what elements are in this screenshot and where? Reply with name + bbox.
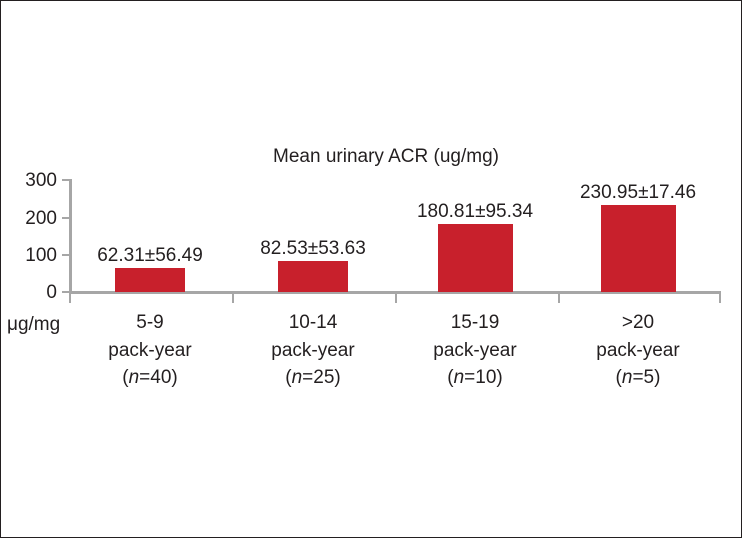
y-tick-100	[62, 254, 70, 256]
bar-value-label-4: 230.95±17.46	[558, 183, 718, 202]
n-count-4: =5)	[632, 367, 660, 388]
category-range-1: 5-9	[70, 309, 230, 337]
n-symbol-2: n	[292, 367, 303, 388]
category-unit-3: pack-year	[395, 337, 555, 365]
category-unit-2: pack-year	[233, 337, 393, 365]
x-tick-2	[395, 294, 397, 303]
bar-5-9-pack-year	[115, 268, 185, 292]
category-range-2: 10-14	[233, 309, 393, 337]
plot-area: 300 200 100 0 62.31±56.49 82.53±53.63 18…	[1, 1, 742, 538]
x-tick-end	[719, 294, 721, 303]
n-count-3: =10)	[464, 367, 503, 388]
y-tick-300	[62, 179, 70, 181]
bar-15-19-pack-year	[438, 224, 513, 292]
category-n-2: (n=25)	[233, 364, 393, 392]
category-range-3: 15-19	[395, 309, 555, 337]
y-tick-label-0: 0	[9, 283, 57, 302]
category-unit-4: pack-year	[558, 337, 718, 365]
y-axis-unit-label: μg/mg	[7, 314, 60, 336]
n-symbol-1: n	[129, 367, 140, 388]
bar-gt-20-pack-year	[601, 205, 676, 292]
category-label-4: >20 pack-year (n=5)	[558, 309, 718, 392]
figure-panel: Mean urinary ACR (ug/mg) 300 200 100 0 6…	[0, 0, 742, 538]
category-n-1: (n=40)	[70, 364, 230, 392]
n-count-1: =40)	[139, 367, 178, 388]
bar-10-14-pack-year	[278, 261, 348, 292]
y-axis-line	[69, 179, 72, 293]
n-symbol-4: n	[622, 367, 633, 388]
y-tick-200	[62, 217, 70, 219]
n-symbol-3: n	[454, 367, 465, 388]
n-count-2: =25)	[302, 367, 341, 388]
bar-value-label-3: 180.81±95.34	[395, 202, 555, 221]
bar-value-label-1: 62.31±56.49	[70, 246, 230, 265]
y-tick-label-100: 100	[9, 246, 57, 265]
category-range-4: >20	[558, 309, 718, 337]
category-label-1: 5-9 pack-year (n=40)	[70, 309, 230, 392]
category-n-3: (n=10)	[395, 364, 555, 392]
x-tick-3	[558, 294, 560, 303]
category-n-4: (n=5)	[558, 364, 718, 392]
y-tick-label-200: 200	[9, 209, 57, 228]
category-label-2: 10-14 pack-year (n=25)	[233, 309, 393, 392]
x-tick-1	[232, 294, 234, 303]
bar-value-label-2: 82.53±53.63	[233, 239, 393, 258]
category-unit-1: pack-year	[70, 337, 230, 365]
category-label-3: 15-19 pack-year (n=10)	[395, 309, 555, 392]
y-tick-label-300: 300	[9, 171, 57, 190]
x-tick-start	[69, 294, 71, 303]
